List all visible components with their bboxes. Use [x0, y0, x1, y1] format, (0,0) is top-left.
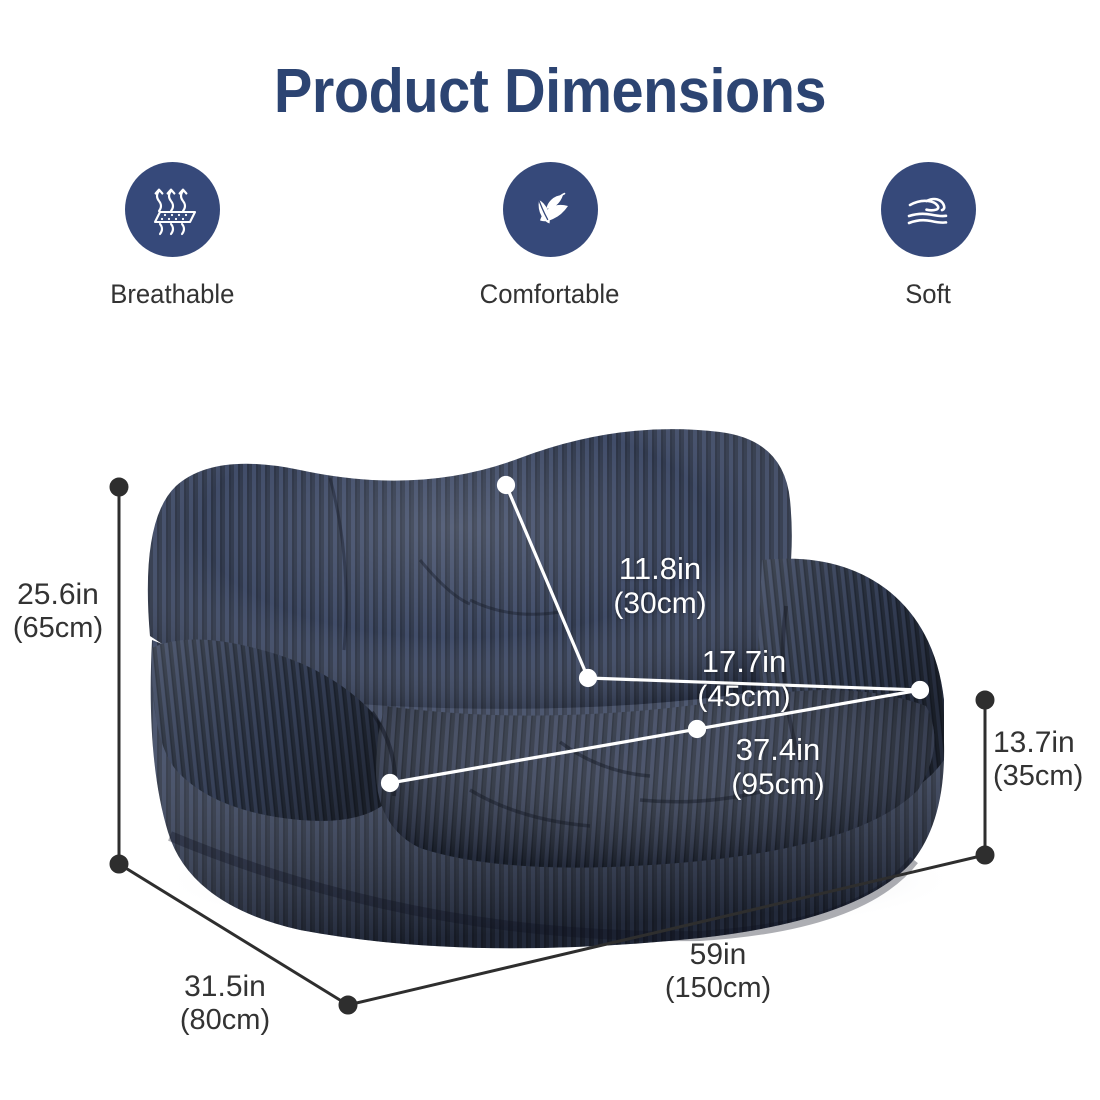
- dimension-endpoint: [499, 478, 514, 493]
- product-image-with-dimensions: [0, 0, 1100, 1100]
- dimension-junction: [581, 671, 596, 686]
- dimension-label-seat-height: 13.7in (35cm): [993, 726, 1093, 792]
- dimension-label-height: 25.6in (65cm): [6, 578, 110, 644]
- dimension-endpoint: [111, 479, 127, 495]
- dimension-endpoint: [977, 692, 993, 708]
- dimension-label-seat-width: 37.4in (95cm): [678, 733, 878, 801]
- dimension-label-width: 59in (150cm): [610, 938, 826, 1004]
- dimension-endpoint: [383, 776, 398, 791]
- dimension-label-depth: 31.5in (80cm): [110, 970, 340, 1036]
- infographic-canvas: Product Dimensions: [0, 0, 1100, 1100]
- dimension-label-seat-depth: 17.7in (45cm): [644, 645, 844, 713]
- dimension-label-backrest: 11.8in (30cm): [560, 552, 760, 620]
